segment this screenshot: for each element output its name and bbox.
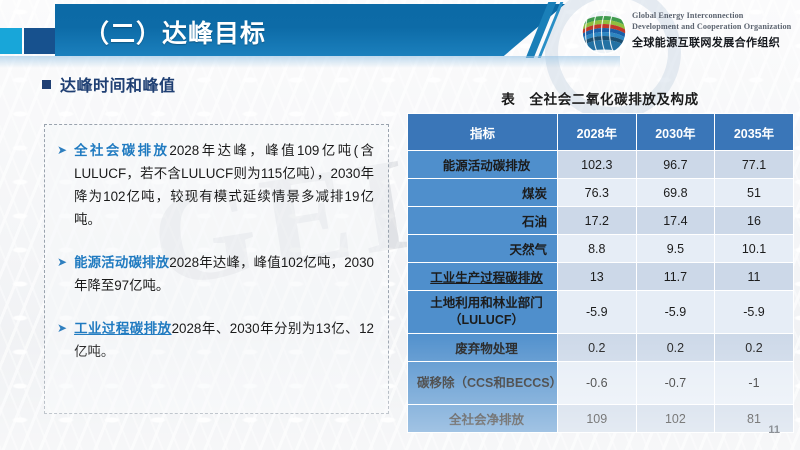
table-cell-value: -5.9 (715, 291, 794, 334)
bullet-text: 全社会碳排放2028年达峰，峰值109亿吨(含LULUCF，若不含LULUCF则… (74, 139, 374, 231)
slide-canvas: GEIDCO （二）达峰目标 (0, 0, 800, 450)
bullet-item: ➤工业过程碳排放2028年、2030年分别为13亿、12亿吨。 (57, 317, 374, 363)
page-number: 11 (768, 424, 780, 436)
globe-logo-icon (580, 8, 628, 56)
table-column-header: 指标 (408, 114, 558, 151)
arrow-bullet-icon: ➤ (57, 139, 67, 231)
table-row: 碳移除（CCS和BECCS）-0.6-0.7-1 (408, 362, 794, 405)
header-underglow (0, 56, 620, 68)
table-row-label: 碳移除（CCS和BECCS） (408, 362, 558, 405)
bullet-highlight: 全社会碳排放 (74, 143, 169, 158)
table-row-label: 土地利用和林业部门（LULUCF） (408, 291, 558, 334)
table-column-header: 2035年 (715, 114, 794, 151)
table-cell-value: 96.7 (636, 151, 715, 179)
bullet-text: 工业过程碳排放2028年、2030年分别为13亿、12亿吨。 (74, 317, 374, 363)
table-cell-value: 51 (715, 179, 794, 207)
table-cell-value: -5.9 (558, 291, 637, 334)
table-row-label-underlined: 工业生产过程碳排放 (430, 271, 543, 285)
table-cell-value: 109 (558, 405, 637, 433)
bullet-text: 能源活动碳排放2028年达峰，峰值102亿吨，2030年降至97亿吨。 (74, 251, 374, 297)
table-row: 煤炭76.369.851 (408, 179, 794, 207)
square-bullet-icon (42, 80, 51, 89)
table-row: 石油17.217.416 (408, 207, 794, 235)
table-row: 土地利用和林业部门（LULUCF）-5.9-5.9-5.9 (408, 291, 794, 334)
emissions-table: 指标2028年2030年2035年 能源活动碳排放102.396.777.1煤炭… (407, 113, 794, 433)
table-cell-value: 11.7 (636, 263, 715, 291)
bullet-item: ➤能源活动碳排放2028年达峰，峰值102亿吨，2030年降至97亿吨。 (57, 251, 374, 297)
header-cyan-square-icon (0, 28, 22, 54)
bullet-item: ➤全社会碳排放2028年达峰，峰值109亿吨(含LULUCF，若不含LULUCF… (57, 139, 374, 231)
slide-header: （二）达峰目标 (0, 0, 800, 64)
table-cell-value: 102 (636, 405, 715, 433)
table-cell-value: 76.3 (558, 179, 637, 207)
bullets-textbox: ➤全社会碳排放2028年达峰，峰值109亿吨(含LULUCF，若不含LULUCF… (44, 124, 389, 414)
arrow-bullet-icon: ➤ (57, 317, 67, 363)
section-heading: 达峰时间和峰值 (42, 72, 176, 96)
table-row-label-line1: 土地利用和林业部门 (417, 295, 556, 312)
table-cell-value: -0.7 (636, 362, 715, 405)
section-heading-label: 达峰时间和峰值 (60, 72, 176, 96)
table-row-label: 煤炭 (408, 179, 558, 207)
table-caption: 表 全社会二氧化碳排放及构成 (404, 88, 796, 108)
logo-wordmark: Global Energy Interconnection Developmen… (632, 10, 791, 50)
table-header-row: 指标2028年2030年2035年 (408, 114, 794, 151)
table-row-label: 能源活动碳排放 (408, 151, 558, 179)
table-row-label: 天然气 (408, 235, 558, 263)
bullet-highlight: 工业过程碳排放 (74, 321, 172, 336)
page-title: （二）达峰目标 (84, 14, 266, 50)
logo-en-line1: Global Energy Interconnection (632, 10, 791, 21)
table-cell-value: 0.2 (558, 334, 637, 362)
table-row: 天然气8.89.510.1 (408, 235, 794, 263)
table-row: 废弃物处理0.20.20.2 (408, 334, 794, 362)
table-row-label: 工业生产过程碳排放 (408, 263, 558, 291)
table-row-label: 全社会净排放 (408, 405, 558, 433)
table-cell-value: 0.2 (636, 334, 715, 362)
table-row: 工业生产过程碳排放1311.711 (408, 263, 794, 291)
table-column-header: 2028年 (558, 114, 637, 151)
table-row-label: 石油 (408, 207, 558, 235)
table-cell-value: 16 (715, 207, 794, 235)
table-row: 能源活动碳排放102.396.777.1 (408, 151, 794, 179)
table-cell-value: 17.4 (636, 207, 715, 235)
bullet-highlight: 能源活动碳排放 (74, 255, 169, 270)
arrow-bullet-icon: ➤ (57, 251, 67, 297)
table-row-label-line2: （LULUCF） (417, 312, 556, 329)
table-cell-value: -5.9 (636, 291, 715, 334)
table-cell-value: 10.1 (715, 235, 794, 263)
table-cell-value: -0.6 (558, 362, 637, 405)
table-cell-value: 11 (715, 263, 794, 291)
table-cell-value: 102.3 (558, 151, 637, 179)
table-cell-value: -1 (715, 362, 794, 405)
table-cell-value: 9.5 (636, 235, 715, 263)
table-row: 全社会净排放10910281 (408, 405, 794, 433)
table-cell-value: 69.8 (636, 179, 715, 207)
table-column-header: 2030年 (636, 114, 715, 151)
table-cell-value: 8.8 (558, 235, 637, 263)
table-row-label: 废弃物处理 (408, 334, 558, 362)
table-cell-value: 81 (715, 405, 794, 433)
table-cell-value: 17.2 (558, 207, 637, 235)
table-cell-value: 13 (558, 263, 637, 291)
table-cell-value: 0.2 (715, 334, 794, 362)
logo-en-line2: Development and Cooperation Organization (632, 21, 791, 32)
table-cell-value: 77.1 (715, 151, 794, 179)
logo-cn-name: 全球能源互联网发展合作组织 (632, 34, 791, 50)
